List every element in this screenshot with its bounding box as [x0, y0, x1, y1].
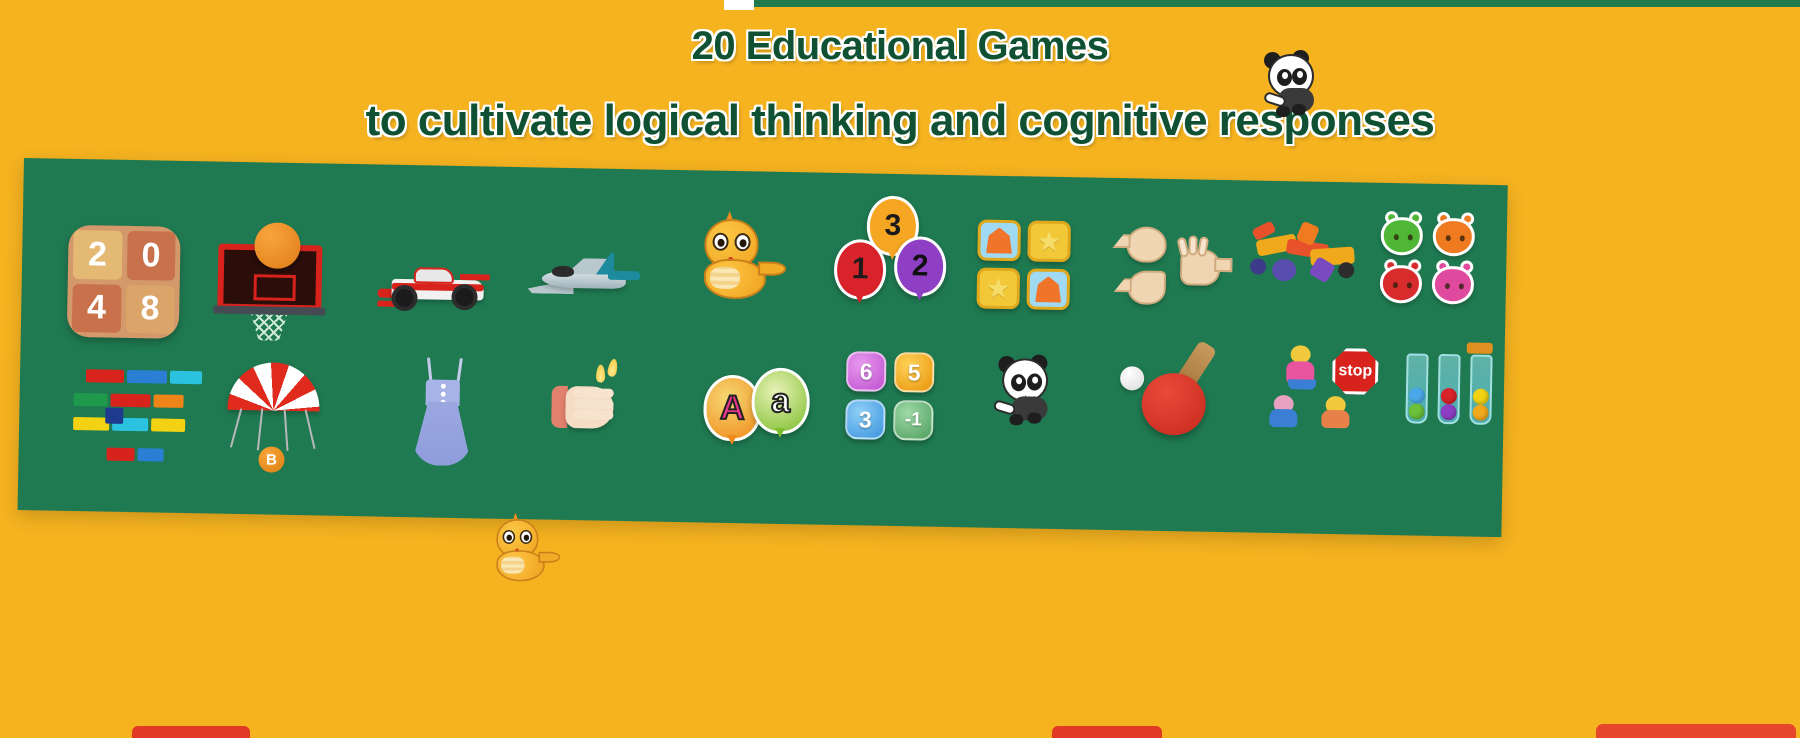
game-icon-ping-pong[interactable] — [1119, 338, 1241, 450]
top-green-strip — [754, 0, 1800, 7]
jelly-frog-icon — [1380, 217, 1423, 256]
number-cube-5: 5 — [894, 352, 935, 393]
parachute-coin-icon: B — [258, 446, 284, 472]
game-icon-jet-plane[interactable] — [521, 249, 642, 313]
game-icon-horse-race[interactable] — [1250, 210, 1361, 292]
game-icon-jelly-match[interactable] — [1379, 211, 1485, 309]
ball-tube-3 — [1469, 355, 1492, 425]
ball-tube-cap-icon — [1467, 342, 1493, 353]
jelly-cat-icon — [1432, 266, 1475, 305]
game-icon-parachute[interactable]: B — [222, 362, 334, 484]
game-icon-color-blocks[interactable] — [58, 369, 190, 471]
flame-icon-2 — [607, 358, 619, 377]
letter-balloon-a: a — [751, 367, 810, 434]
game-icon-candle-hand[interactable] — [551, 364, 653, 456]
game-icon-letter-balloons[interactable]: A a — [703, 367, 815, 459]
flame-icon — [596, 365, 605, 383]
balloon-1: 1 — [834, 239, 887, 300]
game-icon-2048[interactable]: 2 0 4 8 — [67, 225, 181, 339]
bottom-snake-mascot — [492, 517, 561, 584]
hoop-net-icon — [251, 314, 287, 341]
game-icon-panda[interactable] — [991, 352, 1073, 443]
bottom-accent-center — [1052, 726, 1162, 738]
bottom-strip — [0, 720, 1800, 738]
game-icon-race-car[interactable] — [377, 257, 498, 319]
games-board: 2 0 4 8 — [18, 158, 1508, 537]
page-title-line-2: to cultivate logical thinking and cognit… — [0, 96, 1800, 146]
number-cube-3: 3 — [845, 399, 886, 440]
balloon-2: 2 — [894, 236, 947, 297]
memory-card-star-2: ★ — [976, 267, 1020, 309]
game-icon-rock-paper-scissors[interactable] — [1117, 226, 1229, 318]
top-white-strip — [724, 0, 754, 10]
tile-2048-cell-2: 4 — [72, 283, 121, 332]
game-icon-stop-traffic[interactable]: stop — [1269, 345, 1391, 457]
game-icon-memory-cards[interactable]: ★ ★ — [976, 219, 1082, 317]
jelly-bear-red-icon — [1380, 265, 1423, 304]
jelly-bear-orange-icon — [1432, 218, 1475, 257]
game-icon-basketball[interactable] — [216, 244, 338, 356]
hand-rock-icon — [1126, 226, 1167, 263]
paddle-face-icon — [1141, 373, 1206, 436]
bottom-accent-left — [132, 726, 250, 738]
header-banner: 20 Educational Games to cultivate logica… — [0, 0, 1800, 175]
bottom-accent-right — [1596, 724, 1796, 738]
tile-2048-cell-0: 2 — [73, 230, 122, 279]
game-icon-number-cubes[interactable]: 6 5 3 -1 — [845, 351, 947, 449]
memory-card-fox-2 — [1026, 268, 1070, 310]
ball-tube-1 — [1405, 353, 1428, 423]
page-title-line-1: 20 Educational Games — [0, 24, 1800, 69]
parachute-canopy-icon — [227, 362, 320, 412]
tile-2048-cell-3: 8 — [125, 284, 174, 333]
hoop-base-icon — [213, 305, 325, 315]
stop-sign-icon: stop — [1332, 348, 1379, 395]
game-icon-snake[interactable] — [697, 216, 787, 304]
hand-scissors-icon — [1128, 270, 1167, 305]
game-icon-number-balloons[interactable]: 3 2 1 — [833, 195, 965, 307]
ball-tube-2 — [1437, 354, 1460, 424]
number-cube-6: 6 — [846, 351, 887, 392]
pingpong-ball-icon — [1120, 366, 1144, 390]
panda-mascot-icon — [1262, 48, 1326, 118]
tile-2048-cell-1: 0 — [126, 231, 175, 280]
game-icon-dress-up[interactable] — [410, 357, 502, 469]
game-icon-ball-sort[interactable] — [1401, 333, 1513, 445]
memory-card-fox-1 — [977, 219, 1021, 261]
number-cube-minus-1: -1 — [893, 400, 934, 441]
poster-canvas: 20 Educational Games to cultivate logica… — [0, 0, 1800, 738]
memory-card-star-1: ★ — [1027, 220, 1071, 262]
